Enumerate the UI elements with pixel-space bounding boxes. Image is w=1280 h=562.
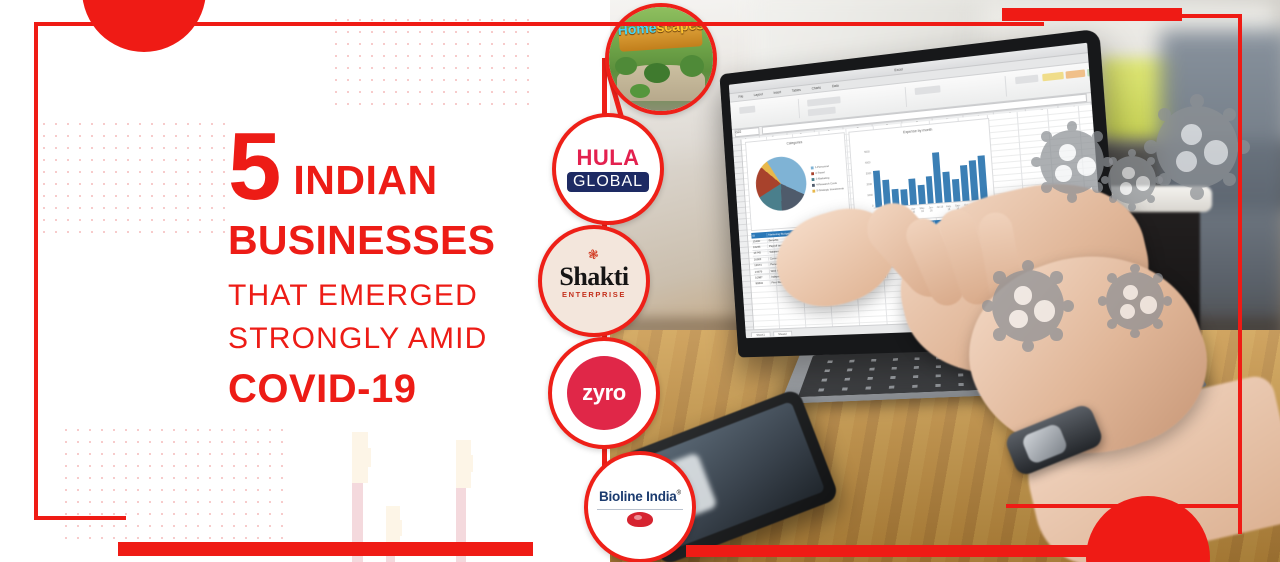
left-content-panel: 5 INDIAN BUSINESSES THAT EMERGED STRONGL… (0, 0, 610, 562)
virus-spike (1092, 182, 1103, 193)
blood-drop-icon (627, 512, 653, 527)
zyro-word: zyro (582, 380, 626, 406)
poster-canvas: Excel File Layout Insert Tables Charts D… (0, 0, 1280, 562)
headline-covid: COVID-19 (228, 367, 558, 412)
legend-label: 5-Strategic Investments (816, 186, 843, 192)
logo-badge-chain: Homescapes HULA GLOBAL ❃ Shakti ENTERPRI… (542, 0, 722, 562)
shakti-word: Shakti (559, 264, 628, 290)
watch-face (1021, 422, 1069, 465)
sheet-tab-1[interactable]: Sheet1 (751, 331, 770, 336)
virus-spike (1147, 195, 1155, 203)
virus-spot (1034, 300, 1056, 322)
badge-bioline-india[interactable]: Bioline India® (584, 451, 696, 562)
y-tick: 4000 (855, 161, 870, 165)
virus-spike (1147, 157, 1155, 165)
virus-spike (1109, 157, 1117, 165)
virus-spike (352, 493, 363, 504)
ribbon-chip-number[interactable] (1015, 75, 1038, 85)
virus-spike (352, 525, 363, 536)
virus-spike (456, 517, 466, 527)
virus-spike (993, 271, 1005, 283)
virus-spike (993, 328, 1005, 340)
bar (978, 155, 988, 199)
virus-spot (1204, 140, 1229, 165)
bar (908, 179, 917, 205)
bar-chart-bars (871, 140, 987, 208)
hula-global-logo: HULA GLOBAL (567, 147, 649, 192)
bioline-logo: Bioline India® (593, 488, 687, 527)
virus-spike (456, 557, 466, 562)
virus-spike (1153, 319, 1163, 329)
ribbon-chip-cellstyle-yellow[interactable] (1042, 72, 1064, 82)
ribbon-tab-file[interactable]: File (738, 95, 743, 99)
ribbon-tab-insert[interactable]: Insert (773, 90, 781, 95)
bar (873, 170, 882, 207)
virus-spike (1153, 273, 1163, 283)
dot-pattern-top (330, 14, 530, 110)
virus-icon (1156, 106, 1238, 188)
virus-spike (982, 300, 994, 312)
ribbon-tab-tables[interactable]: Tables (792, 88, 801, 93)
bar (960, 165, 970, 201)
virus-icon (1040, 130, 1104, 194)
virus-spike (352, 557, 363, 562)
virus-spot (456, 472, 471, 487)
x-tick: May-16 (919, 207, 926, 214)
virus-spot (1136, 176, 1150, 190)
ribbon-tab-charts[interactable]: Charts (812, 86, 821, 91)
virus-spike (1223, 108, 1237, 122)
virus-spike (1092, 131, 1103, 142)
legend-label: 2-Travel (815, 170, 825, 175)
x-tick: Jul-16 (936, 206, 943, 213)
pie-chart-graphic (754, 155, 808, 213)
bar (917, 185, 925, 205)
table-cell[interactable]: 15400 (752, 238, 768, 243)
y-tick: 3000 (856, 172, 871, 176)
frame-line-bottom-right (1006, 504, 1242, 508)
legend-label: 4-Research Costs (816, 181, 837, 187)
bar (969, 160, 979, 201)
virus-spike (1107, 273, 1117, 283)
virus-spot (386, 506, 400, 520)
virus-spot (456, 455, 473, 472)
virus-spike (352, 514, 363, 525)
ribbon-tab-layout[interactable]: Layout (754, 92, 763, 97)
y-tick: 1000 (858, 194, 873, 198)
frame-line-bottom-left (34, 516, 126, 520)
frame-line-left (34, 22, 38, 520)
virus-spot (352, 432, 368, 448)
bar (943, 171, 952, 202)
headline-indian: INDIAN (293, 160, 437, 207)
shakti-logo: ❃ Shakti ENTERPRISE (559, 264, 628, 299)
ribbon-chip-style[interactable] (808, 107, 836, 117)
badge-zyro[interactable]: zyro (548, 337, 660, 449)
frame-line-top-right (1110, 14, 1242, 18)
dot-pattern-lower-left (60, 424, 286, 542)
pie-chart-legend: 1-Personnel 2-Travel 3-Marketing 4-Resea… (811, 163, 844, 195)
zyro-disc: zyro (567, 356, 641, 430)
dot-pattern-upper-left (38, 118, 228, 242)
virus-spike (1223, 173, 1237, 187)
virus-spike (352, 504, 363, 515)
legend-label: 1-Personnel (815, 164, 829, 169)
headline-businesses: BUSINESSES (228, 217, 558, 264)
hula-word: HULA (567, 147, 649, 169)
virus-spike (1031, 157, 1042, 168)
badge-homescapes[interactable]: Homescapes (605, 3, 717, 115)
table-cell[interactable]: 16745 (752, 250, 768, 255)
frame-line-top (34, 22, 1044, 26)
bar-chart-y-ticks: 5000 4000 3000 2000 1000 0 (854, 150, 873, 208)
virus-icon (992, 270, 1064, 342)
bar (900, 189, 908, 206)
virus-icon (456, 440, 514, 498)
headline-first-line: 5 INDIAN (228, 128, 558, 207)
virus-spike (1109, 195, 1117, 203)
frame-line-right (1238, 14, 1242, 534)
table-cell[interactable]: 90843 (755, 281, 771, 286)
virus-spike (1022, 260, 1034, 272)
pie-chart-title: Categories (746, 136, 844, 149)
virus-spike (1190, 94, 1204, 108)
virus-spike (456, 507, 466, 517)
virus-icon (1106, 272, 1164, 330)
registered-mark: ® (677, 490, 681, 496)
ribbon-chip-cellstyle-green[interactable] (1087, 67, 1107, 76)
table-cell[interactable]: 16003 (753, 257, 769, 262)
legend-label: 3-Marketing (816, 176, 830, 181)
virus-spike (1041, 182, 1052, 193)
virus-spot (1014, 286, 1033, 305)
virus-spike (1107, 319, 1117, 329)
table-cell[interactable]: 14679 (754, 269, 770, 274)
virus-spike (456, 497, 466, 507)
virus-spot (1059, 144, 1076, 161)
x-tick: Jun-16 (928, 206, 935, 213)
bioline-rule (597, 509, 683, 510)
headline-number: 5 (228, 128, 279, 207)
virus-spot (1055, 165, 1072, 182)
virus-spike (456, 527, 466, 537)
virus-spot (352, 467, 368, 483)
y-tick: 0 (858, 205, 873, 209)
ribbon-tab-data[interactable]: Data (832, 84, 839, 89)
sheet-tab-2[interactable]: Sheet2 (773, 330, 793, 336)
homescapes-bush (615, 57, 637, 75)
virus-spike (456, 488, 466, 498)
bar (925, 176, 934, 203)
virus-spot (386, 520, 402, 536)
decor-bar-bottom-left (118, 542, 533, 556)
headline-block: 5 INDIAN BUSINESSES THAT EMERGED STRONGL… (228, 128, 558, 412)
virus-spike (1128, 203, 1136, 211)
virus-spot (1120, 182, 1132, 194)
virus-icon (352, 432, 414, 494)
legend-item: 5-Strategic Investments (812, 186, 844, 192)
table-cell[interactable]: 10987 (754, 275, 770, 280)
table-cell[interactable]: 16246 (752, 244, 768, 249)
y-tick: 2000 (857, 183, 872, 187)
virus-spot (1122, 167, 1134, 179)
decor-bar-bottom-right (686, 545, 1206, 557)
virus-spike (1050, 328, 1062, 340)
virus-icon (1108, 156, 1156, 204)
table-cell[interactable]: 13674 (753, 263, 769, 268)
homescapes-bush (630, 84, 650, 98)
virus-spot (1009, 310, 1028, 329)
virus-spike (1190, 186, 1204, 200)
virus-spot (352, 448, 371, 467)
badge-shakti-enterprise[interactable]: ❃ Shakti ENTERPRISE (538, 225, 650, 337)
bioline-word: Bioline India (599, 489, 677, 504)
bar (932, 152, 942, 203)
headline-sub-line-2: STRONGLY AMID (228, 319, 558, 360)
enterprise-word: ENTERPRISE (559, 291, 628, 299)
virus-spike (1144, 140, 1158, 154)
homescapes-bush (680, 55, 704, 77)
bar (952, 179, 961, 202)
virus-spike (1067, 121, 1078, 132)
virus-spot (1140, 296, 1157, 313)
flame-icon: ❃ (587, 247, 600, 262)
global-word: GLOBAL (567, 172, 649, 192)
virus-spot (456, 440, 471, 455)
virus-spike (1050, 271, 1062, 283)
y-tick: 5000 (854, 150, 869, 154)
virus-spike (1158, 173, 1172, 187)
ribbon-chip-cellstyle-orange[interactable] (1065, 69, 1085, 78)
badge-hula-global[interactable]: HULA GLOBAL (552, 113, 664, 225)
headline-sub-line-1: THAT EMERGED (228, 276, 558, 317)
virus-spike (352, 483, 363, 494)
virus-spot (1120, 304, 1135, 319)
